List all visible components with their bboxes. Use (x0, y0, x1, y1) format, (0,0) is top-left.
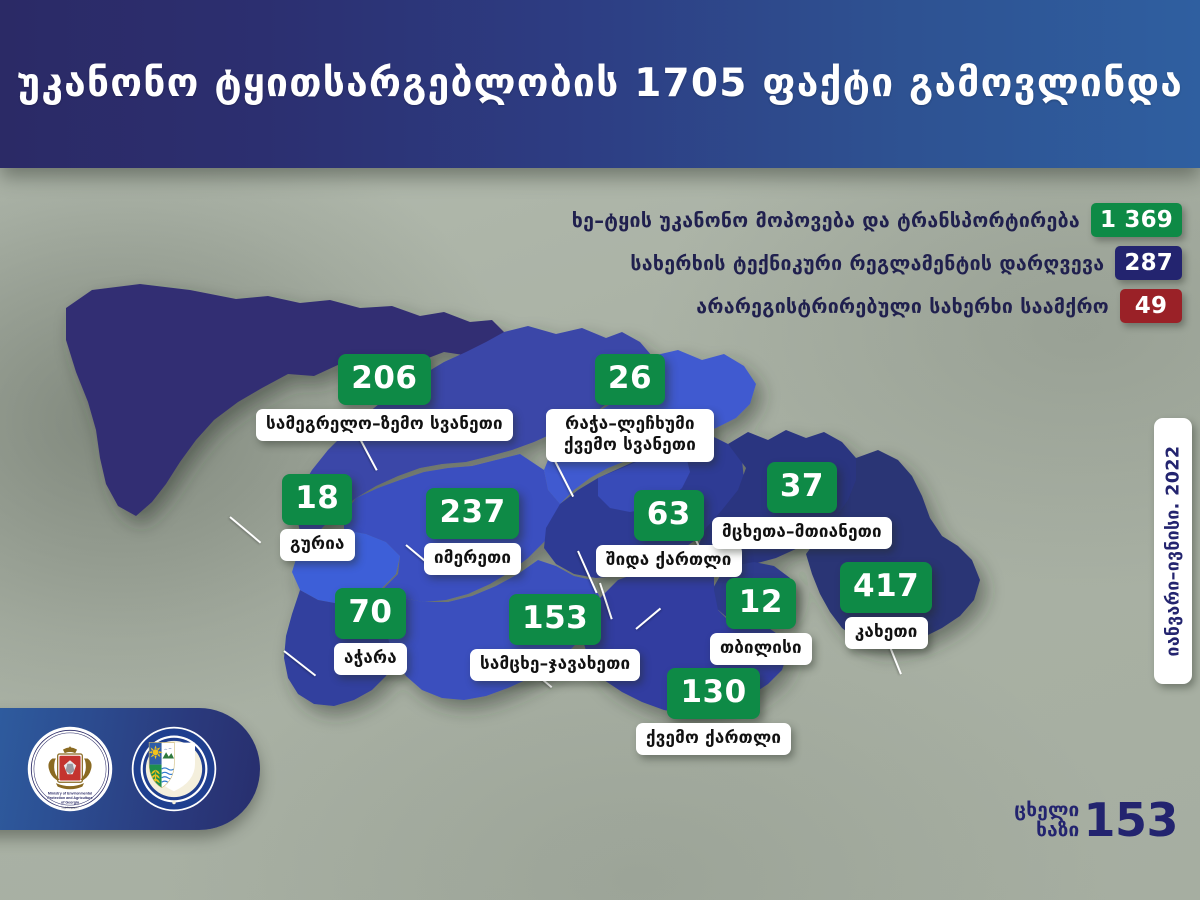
legend-value-badge: 1 369 (1091, 203, 1182, 237)
marker-racha-lechkhumi-kvemo-svaneti[interactable]: 26 რაჭა–ლეჩხუმი ქვემო სვანეთი (540, 354, 720, 462)
region-value-badge: 63 (634, 490, 704, 541)
environmental-supervision-department-seal (130, 725, 218, 813)
region-value-badge: 237 (426, 488, 518, 539)
region-value-badge: 26 (595, 354, 665, 405)
region-value-badge: 70 (335, 588, 405, 639)
legend-label: სახერხის ტექნიკური რეგლამენტის დარღვევა (630, 252, 1104, 275)
hotline-label: ცხელი ხაზი (1014, 800, 1079, 840)
marker-samegrelo-zemo-svaneti[interactable]: 206 სამეგრელო–ზემო სვანეთი (256, 354, 513, 441)
marker-tbilisi[interactable]: 12 თბილისი (710, 578, 812, 665)
legend-value-badge: 49 (1120, 289, 1182, 323)
region-value-badge: 18 (282, 474, 352, 525)
marker-imereti[interactable]: 237 იმერეთი (424, 488, 521, 575)
hotline-label-line1: ცხელი (1014, 800, 1079, 820)
svg-text:Ministry of Environmental: Ministry of Environmental (48, 792, 92, 796)
legend-item-unregistered-sawmill: არარეგისტრირებული სახერხი საამქრო 49 (696, 289, 1182, 323)
marker-mtskheta-mtianeti[interactable]: 37 მცხეთა–მთიანეთი (712, 462, 892, 549)
region-name-plate: რაჭა–ლეჩხუმი ქვემო სვანეთი (546, 409, 714, 462)
region-name-plate: გურია (280, 529, 355, 561)
hotline: ცხელი ხაზი 153 (1014, 798, 1178, 842)
region-name-plate: მცხეთა–მთიანეთი (712, 517, 892, 549)
hotline-number: 153 (1083, 798, 1178, 842)
marker-guria[interactable]: 18 გურია (280, 474, 355, 561)
ministry-of-environmental-protection-and-agriculture-seal: Ministry of Environmental Protection and… (26, 725, 114, 813)
page-title: უკანონო ტყითსარგებლობის 1705 ფაქტი გამოვ… (0, 58, 1200, 110)
region-name-plate: აჭარა (334, 643, 407, 675)
region-name-plate: სამეგრელო–ზემო სვანეთი (256, 409, 513, 441)
marker-samtskhe-javakheti[interactable]: 153 სამცხე–ჯავახეთი (470, 594, 640, 681)
region-name-plate: იმერეთი (424, 543, 521, 575)
svg-text:Protection and Agriculture: Protection and Agriculture (47, 796, 92, 800)
marker-kakheti[interactable]: 417 კახეთი (840, 562, 932, 649)
marker-kvemo-kartli[interactable]: 130 ქვემო ქართლი (636, 668, 791, 755)
region-name-plate: კახეთი (845, 617, 928, 649)
legend-item-illegal-logging: ხე–ტყის უკანონო მოპოვება და ტრანსპორტირე… (572, 203, 1182, 237)
legend-label: ხე–ტყის უკანონო მოპოვება და ტრანსპორტირე… (572, 209, 1080, 232)
legend-label: არარეგისტრირებული სახერხი საამქრო (696, 295, 1109, 318)
date-range-ribbon: იანვარი–ივნისი. 2022 (1154, 418, 1192, 684)
legend-value-badge: 287 (1115, 246, 1182, 280)
legend: ხე–ტყის უკანონო მოპოვება და ტრანსპორტირე… (572, 203, 1182, 323)
region-name-plate: ქვემო ქართლი (636, 723, 791, 755)
logo-bar: Ministry of Environmental Protection and… (0, 708, 260, 830)
region-value-badge: 37 (767, 462, 837, 513)
region-name-plate: სამცხე–ჯავახეთი (470, 649, 640, 681)
svg-text:საქართველო: საქართველო (61, 806, 79, 810)
region-name-plate: თბილისი (710, 633, 812, 665)
region-value-badge: 417 (840, 562, 932, 613)
legend-item-sawmill-regulation-breach: სახერხის ტექნიკური რეგლამენტის დარღვევა … (630, 246, 1182, 280)
hotline-label-line2: ხაზი (1014, 820, 1079, 840)
region-value-badge: 130 (667, 668, 759, 719)
svg-text:of Georgia: of Georgia (61, 800, 80, 804)
region-value-badge: 12 (726, 578, 796, 629)
header-banner: უკანონო ტყითსარგებლობის 1705 ფაქტი გამოვ… (0, 0, 1200, 168)
marker-adjara[interactable]: 70 აჭარა (334, 588, 407, 675)
region-value-badge: 206 (338, 354, 430, 405)
region-name-plate: შიდა ქართლი (596, 545, 742, 577)
date-range-text: იანვარი–ივნისი. 2022 (1163, 446, 1183, 657)
region-value-badge: 153 (509, 594, 601, 645)
